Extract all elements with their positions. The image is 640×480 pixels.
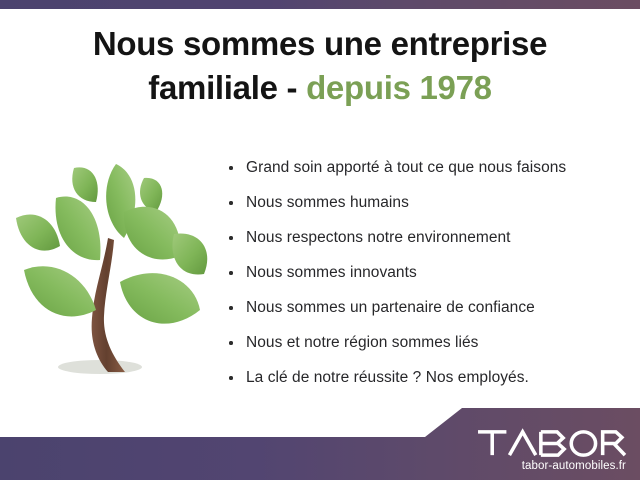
tabor-wordmark-icon [476, 428, 628, 458]
bullet-dot-icon [229, 201, 233, 205]
bullet-dot-icon [229, 166, 233, 170]
bullet-dot-icon [229, 236, 233, 240]
top-accent-bar [0, 0, 640, 9]
list-item-label: Nous et notre région sommes liés [246, 334, 478, 351]
list-item: Nous et notre région sommes liés [228, 325, 628, 360]
list-item: La clé de notre réussite ? Nos employés. [228, 360, 628, 395]
tree-shadow [58, 360, 142, 374]
list-item: Nous sommes humains [228, 185, 628, 220]
headline-line-2: familiale - depuis 1978 [0, 66, 640, 110]
headline-line-1: Nous sommes une entreprise [0, 22, 640, 66]
headline-accent-year: depuis 1978 [306, 69, 492, 106]
logo-tagline: tabor-automobiles.fr [468, 460, 628, 472]
list-item-label: Grand soin apporté à tout ce que nous fa… [246, 159, 566, 176]
company-logo[interactable]: tabor-automobiles.fr [468, 428, 628, 472]
slide-canvas: Nous sommes une entreprise familiale - d… [0, 0, 640, 480]
list-item-label: Nous sommes humains [246, 194, 409, 211]
feature-list: Grand soin apporté à tout ce que nous fa… [228, 150, 628, 395]
list-item: Nous respectons notre environnement [228, 220, 628, 255]
bullet-dot-icon [229, 306, 233, 310]
list-item-label: Nous respectons notre environnement [246, 229, 511, 246]
tree-illustration [8, 150, 228, 390]
list-item: Nous sommes un partenaire de confiance [228, 290, 628, 325]
list-item-label: La clé de notre réussite ? Nos employés. [246, 369, 529, 386]
list-item: Nous sommes innovants [228, 255, 628, 290]
bullet-dot-icon [229, 341, 233, 345]
list-item: Grand soin apporté à tout ce que nous fa… [228, 150, 628, 185]
bullet-dot-icon [229, 271, 233, 275]
headline-line-2-main: familiale - [148, 69, 306, 106]
list-item-label: Nous sommes innovants [246, 264, 417, 281]
bullet-dot-icon [229, 376, 233, 380]
list-item-label: Nous sommes un partenaire de confiance [246, 299, 535, 316]
page-title: Nous sommes une entreprise familiale - d… [0, 22, 640, 109]
